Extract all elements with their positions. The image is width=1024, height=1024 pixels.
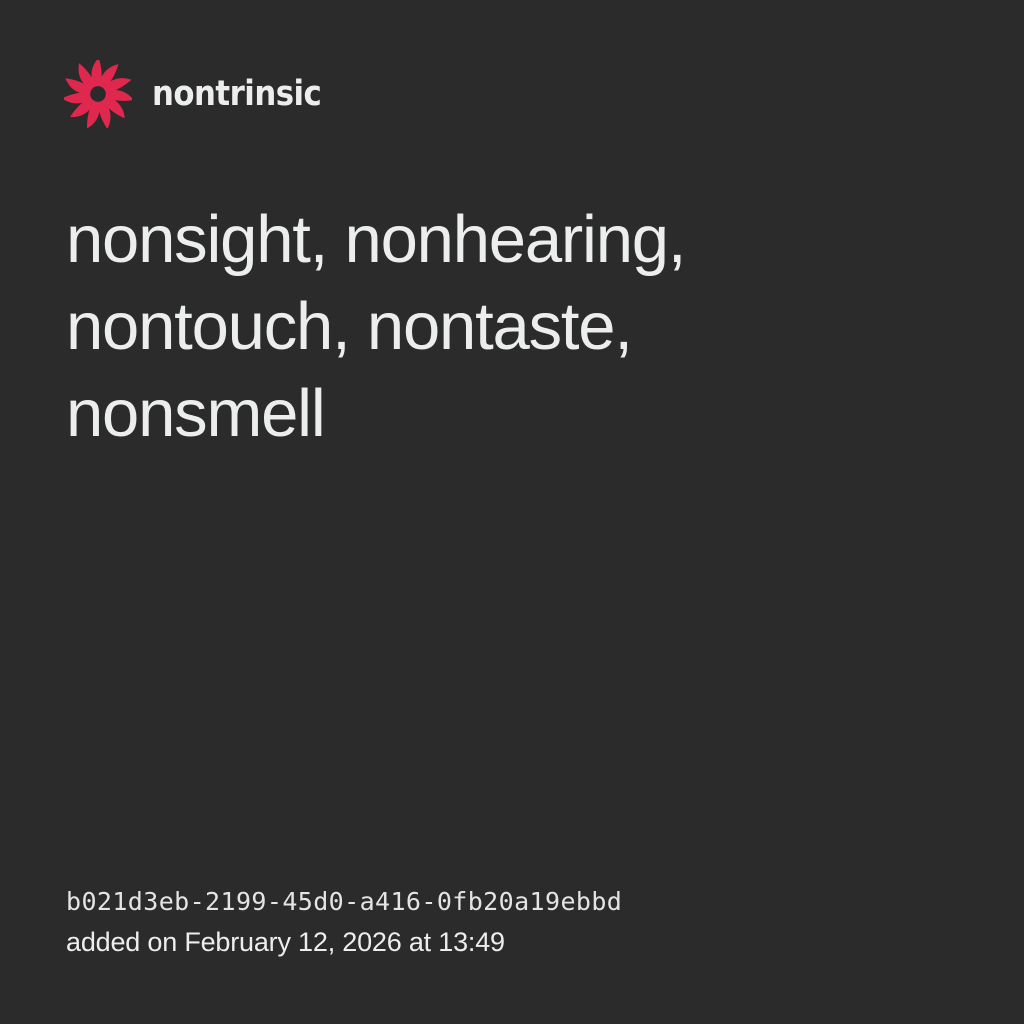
nontrinsic-pinwheel-icon xyxy=(64,60,132,128)
entry-metadata: b021d3eb-2199-45d0-a416-0fb20a19ebbd add… xyxy=(66,882,966,962)
entry-id: b021d3eb-2199-45d0-a416-0fb20a19ebbd xyxy=(66,882,966,922)
page-title: nonsight, nonhearing, nontouch, nontaste… xyxy=(66,196,896,457)
brand-lockup[interactable]: nontrinsic xyxy=(64,60,344,128)
brand-name: nontrinsic xyxy=(152,77,321,112)
entry-card: nontrinsic nonsight, nonhearing, nontouc… xyxy=(0,0,1024,1024)
entry-added-date: added on February 12, 2026 at 13:49 xyxy=(66,922,966,962)
